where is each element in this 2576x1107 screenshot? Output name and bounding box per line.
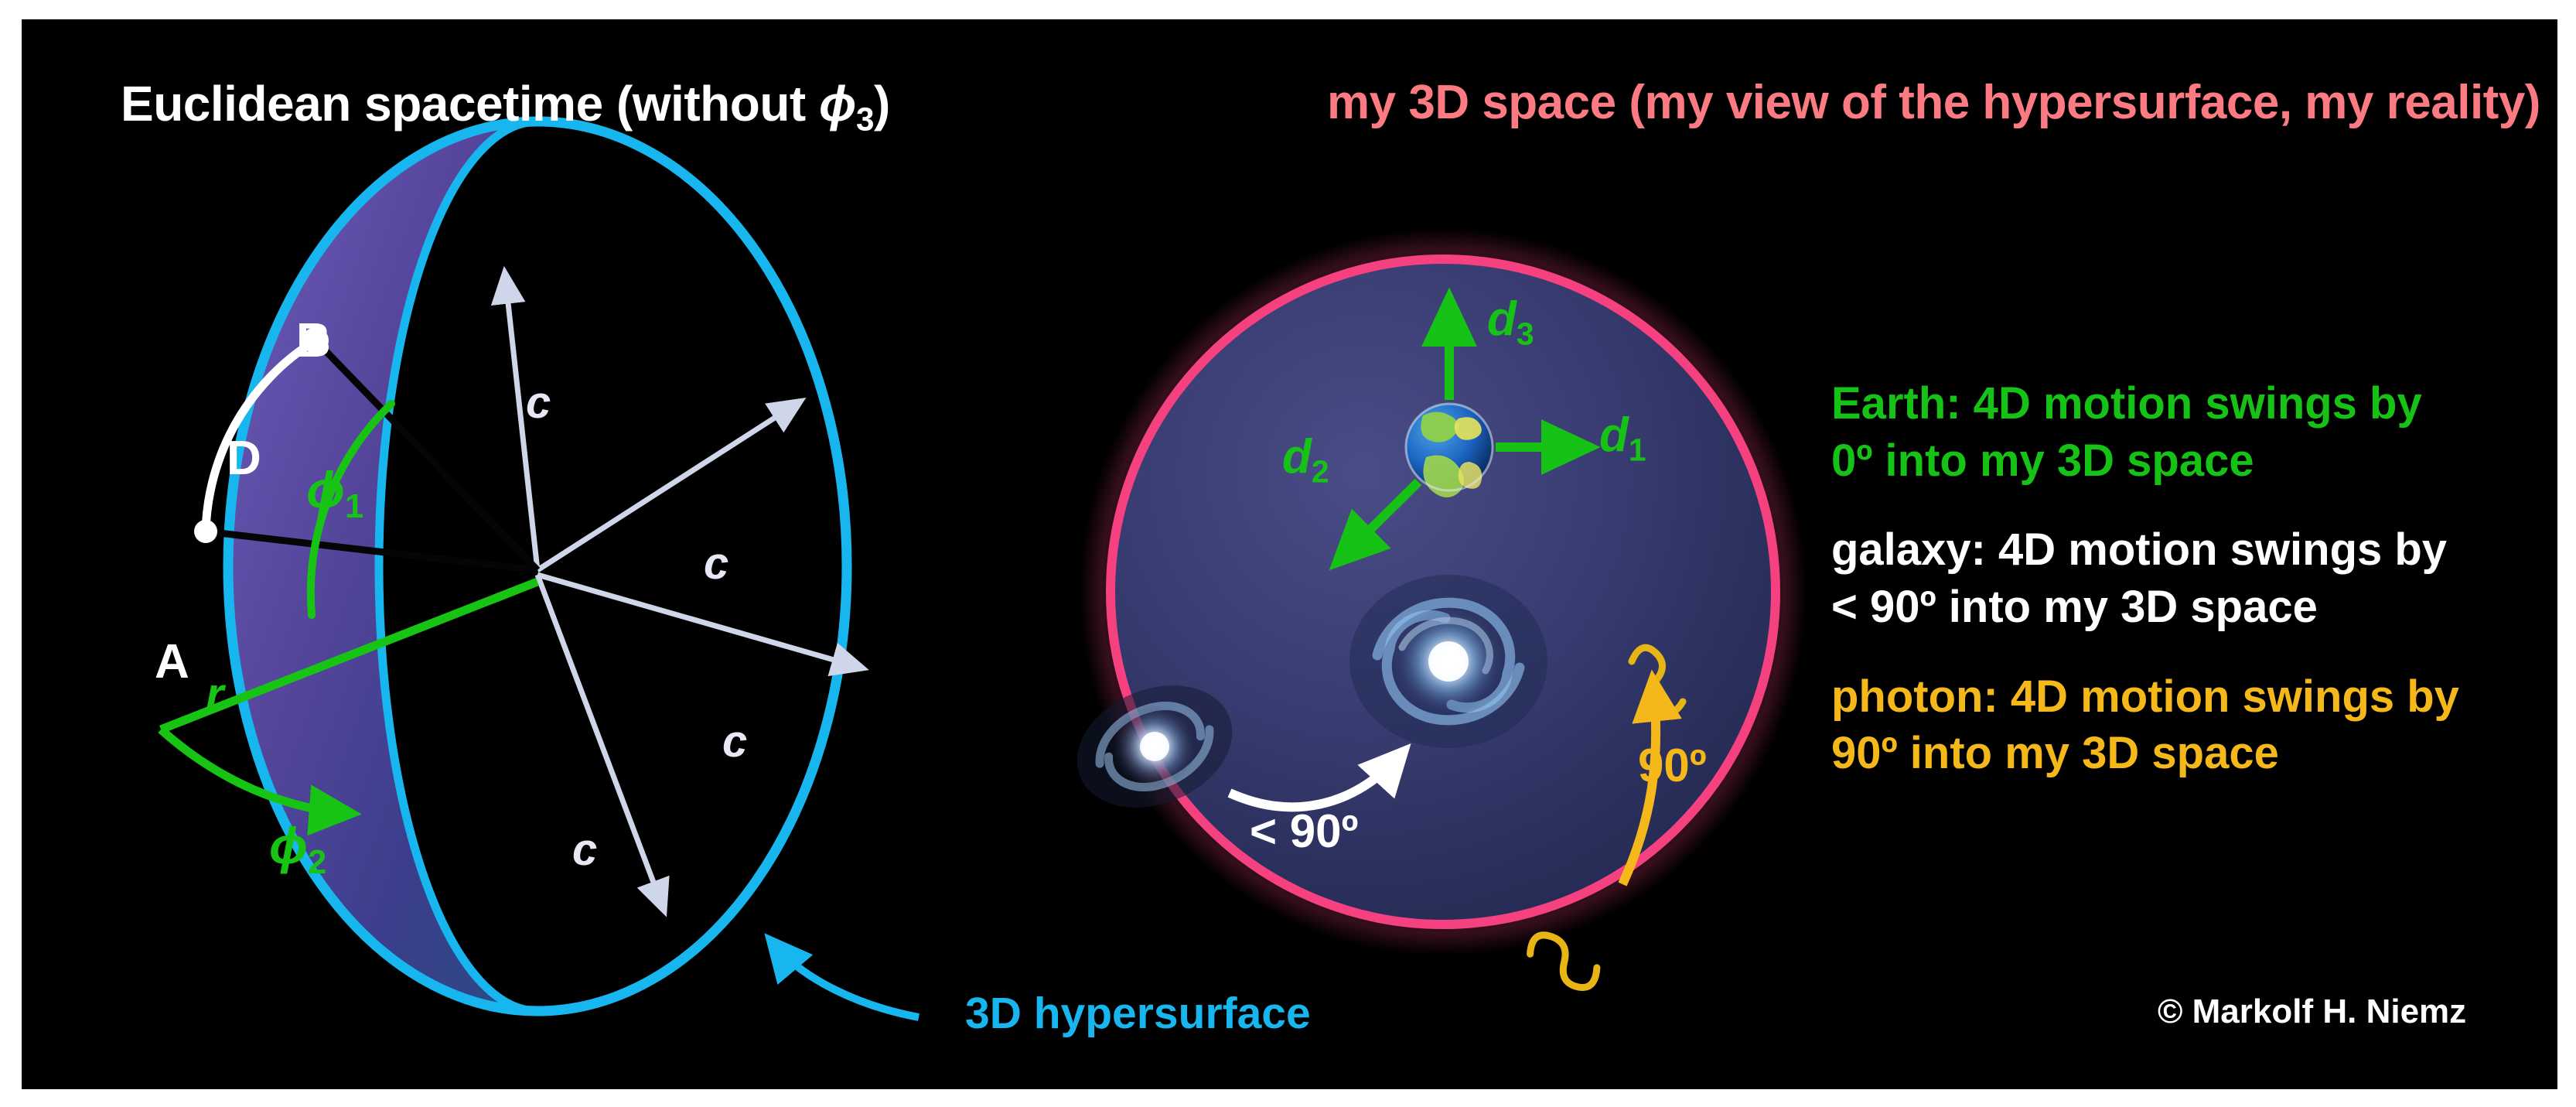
title-left-main: Euclidean spacetime (without <box>121 76 819 132</box>
spiral-galaxy-inside <box>1349 575 1547 748</box>
d1-label: d1 <box>1599 408 1646 468</box>
legend-earth-text: Earth: 4D motion swings by 0º into my 3D… <box>1831 375 2557 489</box>
d1-glyph: d <box>1599 408 1629 462</box>
title-left-phi: ϕ <box>819 76 856 132</box>
phi2-subscript: 2 <box>308 844 326 881</box>
d1-subscript: 1 <box>1629 432 1646 467</box>
d2-glyph: d <box>1282 430 1312 483</box>
c-axis-label-up: c <box>526 377 551 429</box>
c-axis-down <box>537 575 664 909</box>
title-left-phi-sub: 3 <box>856 101 874 138</box>
legend-block: Earth: 4D motion swings by 0º into my 3D… <box>1831 375 2557 782</box>
figure-panel: Euclidean spacetime (without ϕ3) my 3D s… <box>22 19 2557 1089</box>
page-title-right: my 3D space (my view of the hypersurface… <box>1327 75 2540 130</box>
legend-galaxy-text: galaxy: 4D motion swings by < 90º into m… <box>1831 521 2557 635</box>
d3-subscript: 3 <box>1517 316 1534 351</box>
hypersurface-pointer <box>773 944 919 1017</box>
right-sphere-group <box>1059 228 1807 1003</box>
page-title-left: Euclidean spacetime (without ϕ3) <box>121 75 890 138</box>
c-axis-lr <box>537 575 861 668</box>
galaxy-angle-label: < 90º <box>1250 805 1358 858</box>
legend-photon-text: photon: 4D motion swings by 90º into my … <box>1831 668 2557 782</box>
c-axis-ur <box>537 402 799 570</box>
phi2-label: ϕ2 <box>269 816 326 882</box>
left-sphere-group <box>161 121 919 1017</box>
point-A-dot <box>194 520 217 543</box>
point-a-label: A <box>155 634 189 689</box>
c-axis-label-lower-right: c <box>722 716 747 767</box>
d2-label: d2 <box>1282 429 1329 490</box>
title-left-tail: ) <box>874 76 890 132</box>
phi2-glyph: ϕ <box>269 817 308 874</box>
c-axis-label-down: c <box>572 824 597 876</box>
photon-angle-label: 90º <box>1638 739 1707 792</box>
d3-label: d3 <box>1487 292 1534 352</box>
phi1-label: ϕ1 <box>306 460 363 526</box>
hypersurface-label: 3D hypersurface <box>965 988 1311 1039</box>
phi1-glyph: ϕ <box>306 461 345 518</box>
c-axes <box>505 275 861 909</box>
point-b-label: B <box>296 313 331 368</box>
phi1-subscript: 1 <box>345 488 363 525</box>
radius-label: r <box>206 668 223 721</box>
d2-subscript: 2 <box>1312 453 1329 489</box>
arc-distance-label: D <box>227 431 261 486</box>
copyright-notice: © Markolf H. Niemz <box>2158 993 2466 1031</box>
d3-glyph: d <box>1487 292 1517 346</box>
c-axis-label-upper-right: c <box>704 538 728 589</box>
